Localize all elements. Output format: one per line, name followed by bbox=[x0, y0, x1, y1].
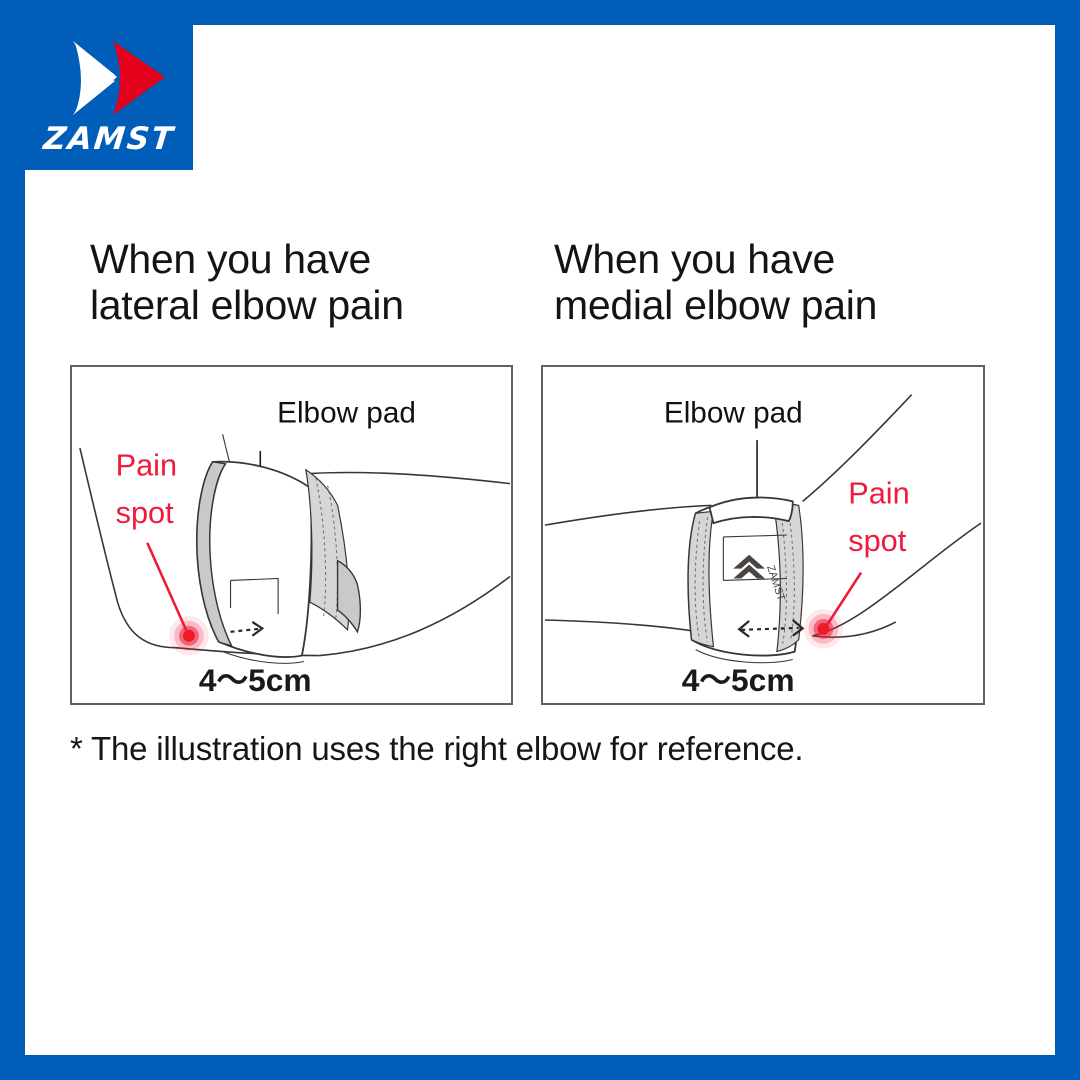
pain-spot-label-left-line1: Pain bbox=[116, 449, 177, 483]
zamst-wordmark: ZAMST bbox=[25, 121, 193, 157]
elbow-pad-label-right: Elbow pad bbox=[664, 396, 803, 429]
pain-spot-label-left-line2: spot bbox=[116, 496, 175, 530]
poster-frame: ZAMST When you have lateral elbow pain W… bbox=[0, 0, 1080, 1080]
zamst-logo-block: ZAMST bbox=[25, 25, 193, 170]
pain-spot-marker-right bbox=[804, 609, 844, 649]
pain-spot-label-right-line1: Pain bbox=[848, 476, 909, 510]
poster-canvas: ZAMST When you have lateral elbow pain W… bbox=[25, 25, 1055, 1055]
pain-spot-label-right-line2: spot bbox=[848, 524, 907, 558]
illustration-panel-medial: ZAMST bbox=[541, 365, 985, 705]
illustration-panel-lateral: Elbow pad Pain spot 4～5cm bbox=[70, 365, 513, 705]
measure-label-left: 4～5cm bbox=[199, 662, 312, 698]
double-chevron-logo-icon bbox=[53, 39, 173, 117]
measure-label-right: 4～5cm bbox=[682, 662, 795, 698]
pain-spot-marker-left bbox=[169, 616, 209, 656]
heading-medial-elbow-pain: When you have medial elbow pain bbox=[554, 237, 1004, 329]
heading-lateral-elbow-pain: When you have lateral elbow pain bbox=[90, 237, 530, 329]
footnote-text: * The illustration uses the right elbow … bbox=[70, 730, 1020, 768]
elbow-pad-label-left: Elbow pad bbox=[277, 396, 416, 429]
